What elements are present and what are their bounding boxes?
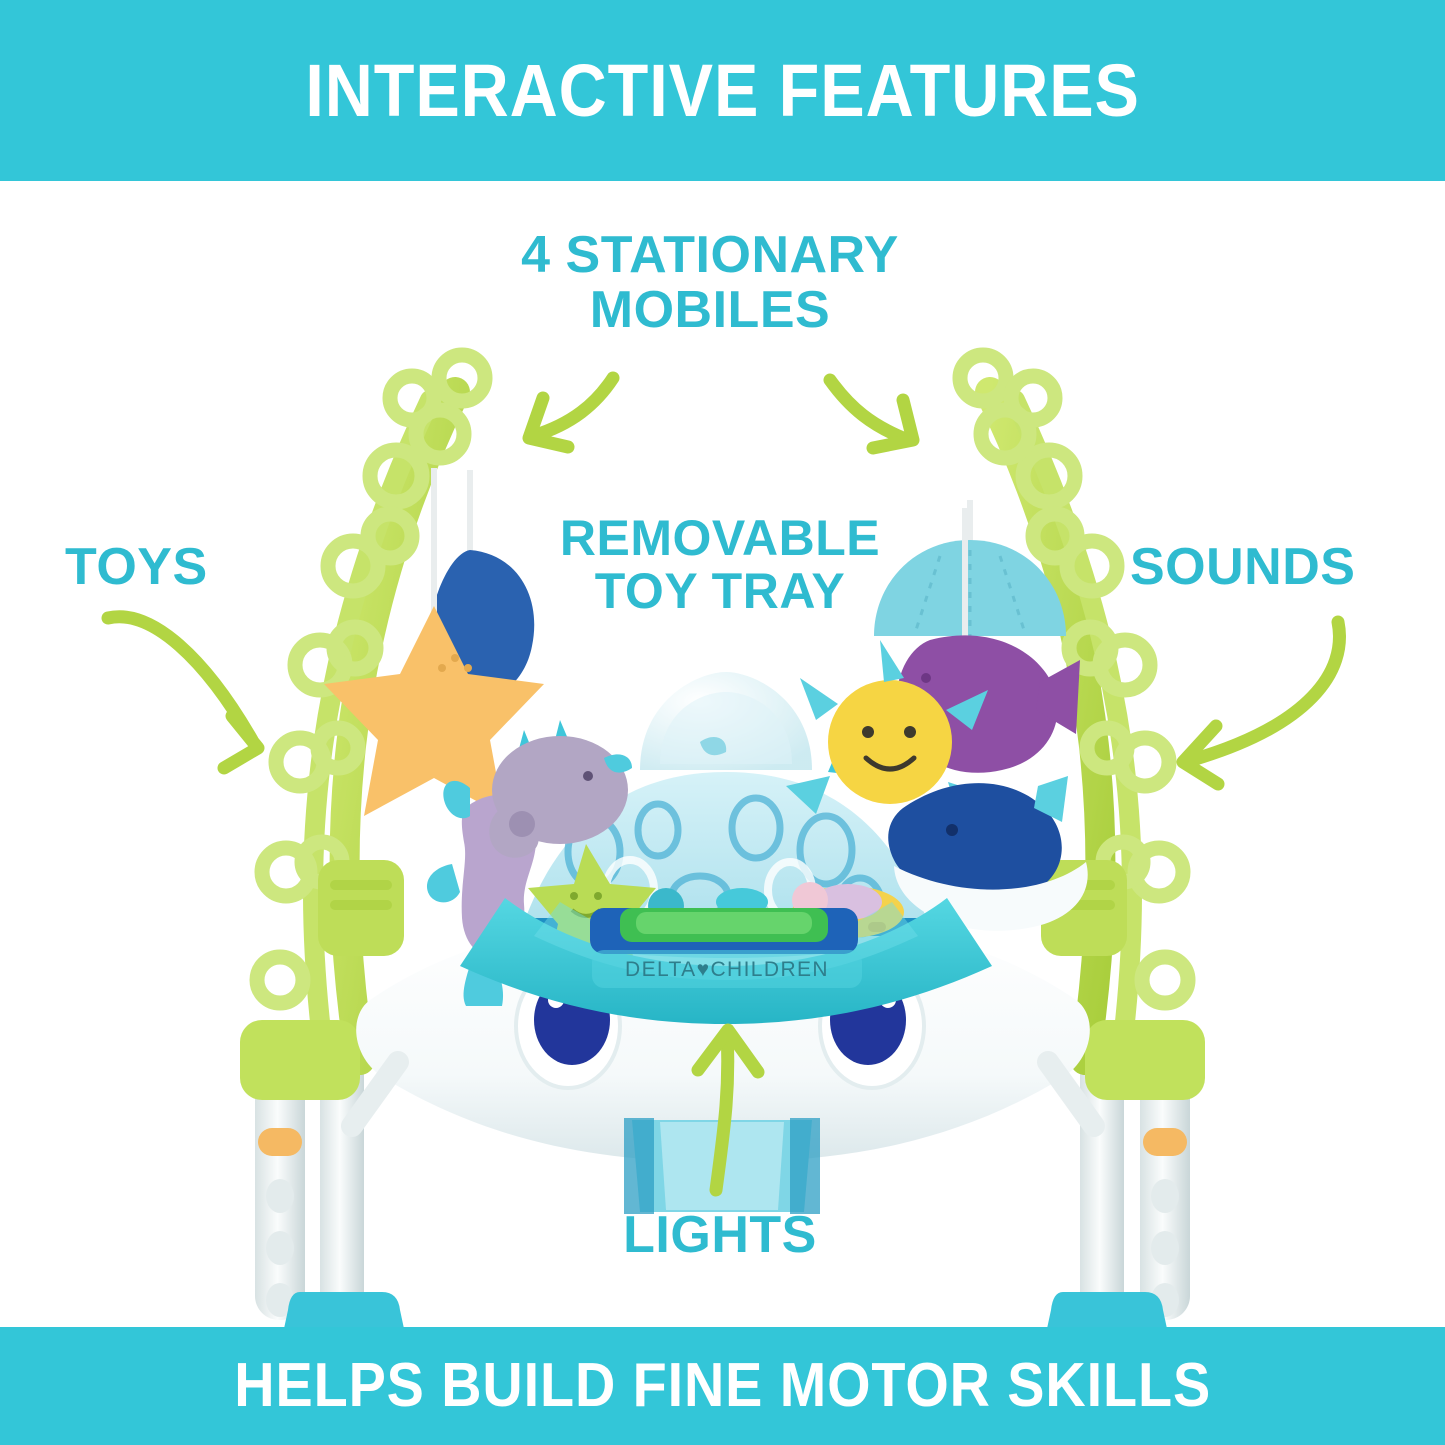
bottom-banner-title: HELPS BUILD FINE MOTOR SKILLS	[234, 1355, 1211, 1417]
bottom-banner: HELPS BUILD FINE MOTOR SKILLS	[0, 1327, 1445, 1445]
callout-lights: LIGHTS	[570, 1208, 870, 1263]
callout-removable-toy-tray: REMOVABLE TOY TRAY	[520, 512, 920, 618]
top-banner: INTERACTIVE FEATURES	[0, 0, 1445, 181]
brand-label: DELTA♥CHILDREN	[625, 958, 829, 981]
top-banner-title: INTERACTIVE FEATURES	[305, 54, 1140, 128]
callout-sounds: SOUNDS	[1130, 540, 1430, 595]
callout-toys: TOYS	[40, 540, 325, 595]
callout-stationary-mobiles: 4 STATIONARY MOBILES	[430, 228, 990, 338]
toy-blue-whale	[888, 776, 1087, 931]
dome-spinner-toy	[640, 672, 812, 770]
infographic-page: DELTA♥CHILDREN	[0, 0, 1445, 1445]
